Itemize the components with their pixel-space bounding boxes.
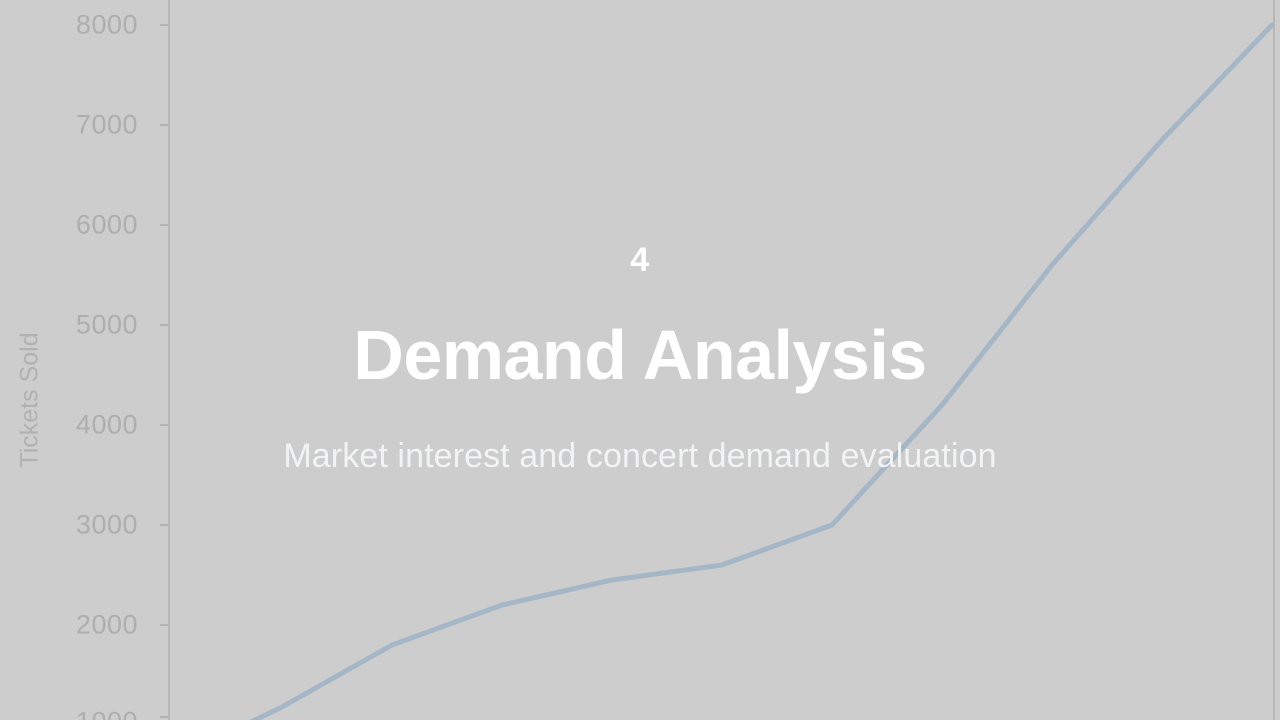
section-subtitle: Market interest and concert demand evalu… bbox=[283, 436, 996, 477]
section-title-block: 4 Demand Analysis Market interest and co… bbox=[0, 0, 1280, 720]
section-title: Demand Analysis bbox=[353, 319, 926, 393]
presentation-slide: 8000 7000 6000 5000 4000 3000 2000 1000 … bbox=[0, 0, 1280, 720]
section-number: 4 bbox=[630, 243, 649, 277]
